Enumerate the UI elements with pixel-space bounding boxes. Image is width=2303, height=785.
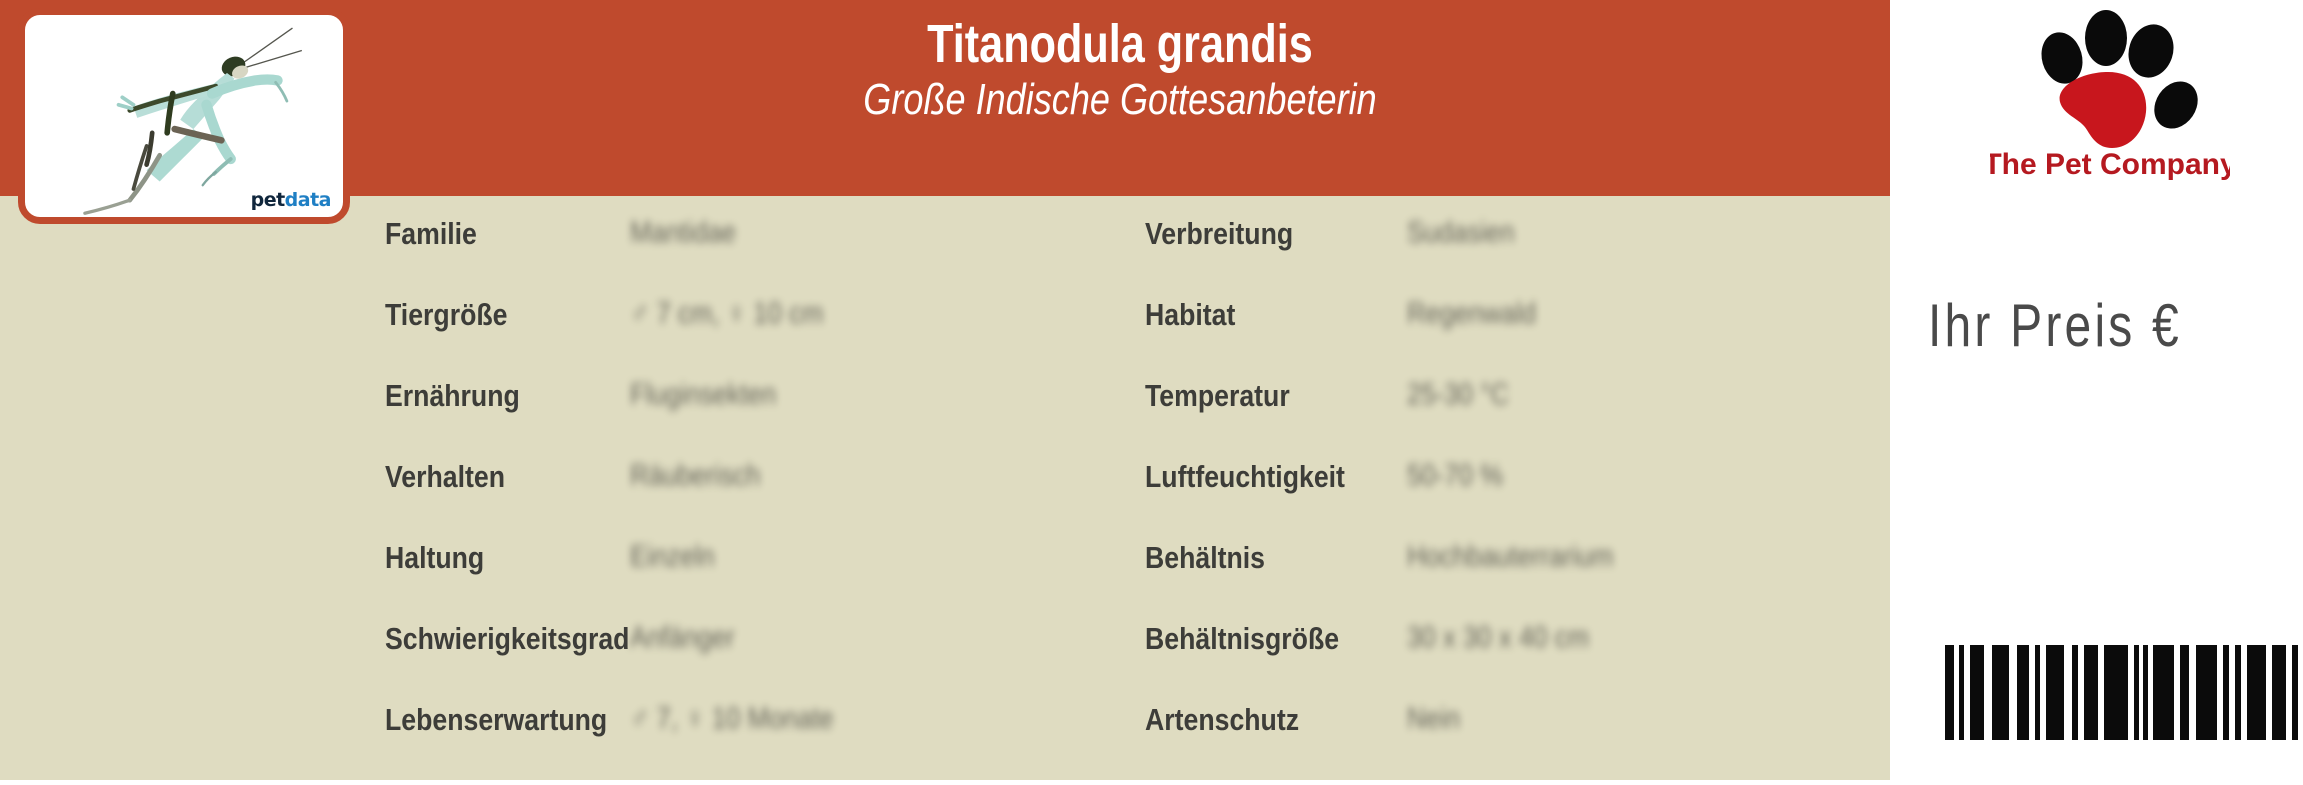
spec-label: Tiergröße: [385, 299, 596, 330]
spec-column-right: Verbreitung Sudasien Habitat Regenwald T…: [1145, 218, 1647, 785]
brand-name: The Pet Company: [1990, 148, 2230, 181]
spec-value: Hochbauterrarium: [1407, 542, 1613, 572]
brand-logo: The Pet Company: [1990, 6, 2230, 184]
spec-value: Regenwald: [1407, 299, 1536, 329]
barcode-space: [2064, 645, 2072, 740]
petdata-watermark-part2: data: [285, 189, 331, 211]
spec-row: Familie Mantidae: [385, 218, 867, 299]
spec-value: 30 x 30 x 40 cm: [1407, 623, 1589, 653]
spec-row: Schwierigkeitsgrad Anfänger: [385, 623, 867, 704]
barcode-space: [1984, 645, 1992, 740]
barcode-bar: [2153, 645, 2174, 740]
spec-label: Lebenserwartung: [385, 704, 596, 735]
spec-value: Sudasien: [1407, 218, 1515, 248]
barcode-space: [2189, 645, 2196, 740]
product-label: Titanodula grandis Große Indische Gottes…: [0, 0, 2303, 780]
spec-row: Haltung Einzeln: [385, 542, 867, 623]
spec-row: Luftfeuchtigkeit 50-70 %: [1145, 461, 1647, 542]
barcode-bar: [1970, 645, 1984, 740]
price-label: Ihr Preis €: [1928, 296, 2182, 356]
barcode-bar: [2104, 645, 2128, 740]
barcode: [1945, 645, 2303, 740]
spec-value: Mantidae: [630, 218, 736, 248]
petdata-watermark-part1: pet: [251, 189, 285, 211]
praying-mantis-photo: [25, 15, 343, 217]
spec-label: Familie: [385, 218, 596, 249]
spec-value: ♂ 7 cm, ♀ 10 cm: [630, 299, 824, 329]
barcode-bar: [2017, 645, 2029, 740]
spec-label: Haltung: [385, 542, 596, 573]
spec-row: Tiergröße ♂ 7 cm, ♀ 10 cm: [385, 299, 867, 380]
spec-row: Habitat Regenwald: [1145, 299, 1647, 380]
barcode-bar: [1945, 645, 1954, 740]
barcode-space: [2009, 645, 2017, 740]
spec-value: Nein: [1407, 704, 1460, 734]
spec-label: Luftfeuchtigkeit: [1145, 461, 1370, 492]
species-photo-card: petdata: [18, 8, 350, 224]
spec-value: Anfänger: [630, 623, 735, 653]
page-title: Titanodula grandis: [520, 16, 1720, 73]
spec-label: Schwierigkeitsgrad: [385, 623, 596, 654]
spec-label: Habitat: [1145, 299, 1370, 330]
barcode-bar: [2046, 645, 2064, 740]
spec-row: Verbreitung Sudasien: [1145, 218, 1647, 299]
spec-label: Artenschutz: [1145, 704, 1370, 735]
spec-label: Behältnisgröße: [1145, 623, 1370, 654]
spec-row: Ernährung Fluginsekten: [385, 380, 867, 461]
spec-label: Ernährung: [385, 380, 596, 411]
petdata-watermark: petdata: [251, 189, 331, 211]
barcode-bar: [2247, 645, 2266, 740]
spec-label: Verbreitung: [1145, 218, 1370, 249]
barcode-bar: [2272, 645, 2286, 740]
paw-print-icon: [2036, 10, 2207, 148]
spec-row: Artenschutz Nein: [1145, 704, 1647, 785]
spec-label: Verhalten: [385, 461, 596, 492]
spec-row: Behältnisgröße 30 x 30 x 40 cm: [1145, 623, 1647, 704]
spec-label: Behältnis: [1145, 542, 1370, 573]
spec-value: 25-30 °C: [1407, 380, 1509, 410]
spec-value: Einzeln: [630, 542, 715, 572]
spec-column-left: Familie Mantidae Tiergröße ♂ 7 cm, ♀ 10 …: [385, 218, 867, 785]
spec-value: ♂ 7, ♀ 10 Monate: [630, 704, 834, 734]
barcode-space: [2298, 645, 2303, 740]
spec-row: Behältnis Hochbauterrarium: [1145, 542, 1647, 623]
barcode-bar: [2084, 645, 2098, 740]
barcode-bar: [2196, 645, 2217, 740]
barcode-bar: [1992, 645, 2009, 740]
spec-row: Lebenserwartung ♂ 7, ♀ 10 Monate: [385, 704, 867, 785]
spec-row: Temperatur 25-30 °C: [1145, 380, 1647, 461]
spec-label: Temperatur: [1145, 380, 1370, 411]
spec-row: Verhalten Räuberisch: [385, 461, 867, 542]
spec-value: 50-70 %: [1407, 461, 1503, 491]
barcode-bar: [2180, 645, 2189, 740]
spec-value: Fluginsekten: [630, 380, 776, 410]
page-subtitle: Große Indische Gottesanbeterin: [505, 76, 1735, 124]
spec-value: Räuberisch: [630, 461, 761, 491]
